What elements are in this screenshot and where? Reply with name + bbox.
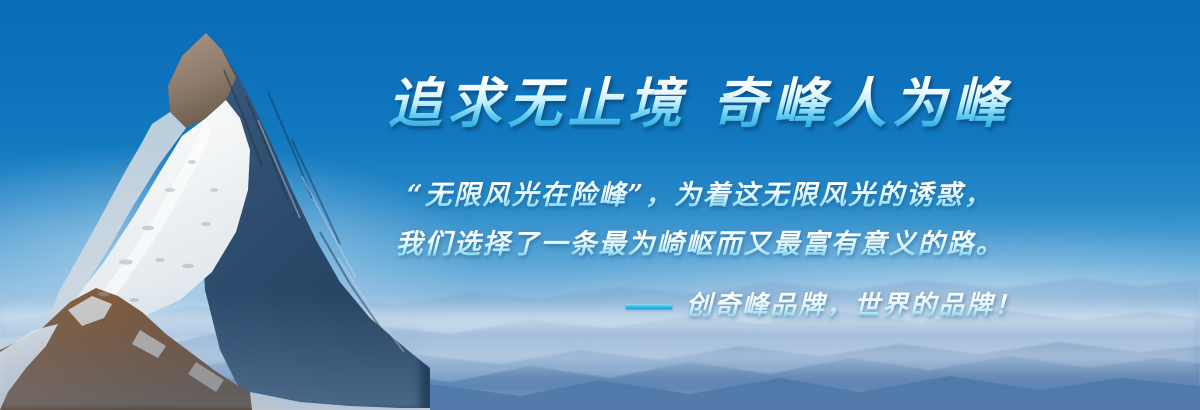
- hero-banner: 追求无止境 奇峰人为峰 “无限风光在险峰”，为着这无限风光的诱惑， 我们选择了一…: [0, 0, 1200, 410]
- banner-subtitle-line-1: “无限风光在险峰”，为着这无限风光的诱惑，: [380, 180, 1020, 212]
- banner-attribution: 创奇峰品牌，世界的品牌！: [380, 291, 1040, 322]
- em-dash-icon: [626, 304, 672, 309]
- peak-base-haze: [0, 290, 420, 410]
- banner-copy: 追求无止境 奇峰人为峰 “无限风光在险峰”，为着这无限风光的诱惑， 我们选择了一…: [380, 0, 1040, 410]
- attribution-text: 创奇峰品牌，世界的品牌！: [686, 291, 1022, 322]
- banner-subtitle-line-2: 我们选择了一条最为崎岖而又最富有意义的路。: [380, 229, 1020, 261]
- banner-headline: 追求无止境 奇峰人为峰: [380, 76, 1020, 130]
